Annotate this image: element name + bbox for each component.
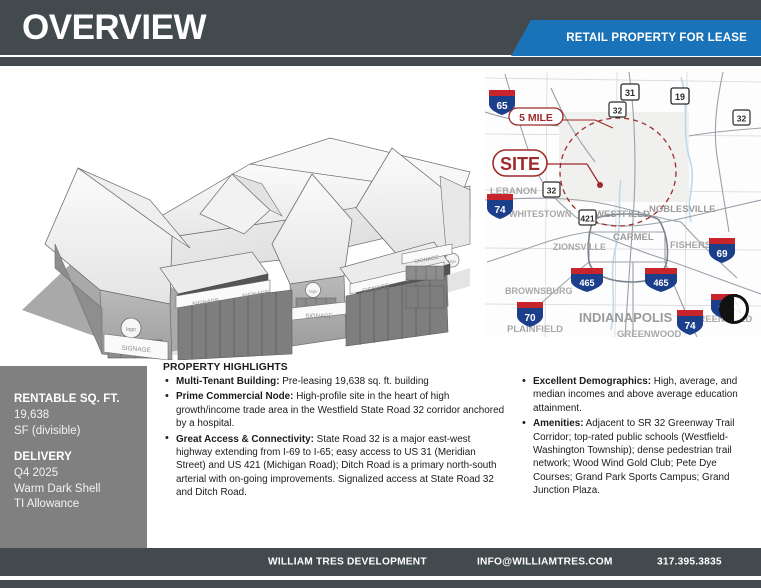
page-title: OVERVIEW — [22, 7, 206, 49]
svg-text:logo: logo — [448, 258, 456, 263]
svg-text:CARMEL: CARMEL — [613, 232, 654, 243]
facts-block-delivery: DELIVERY Q4 2025 Warm Dark Shell TI Allo… — [14, 450, 147, 513]
list-item: Amenities: Adjacent to SR 32 Greenway Tr… — [520, 417, 758, 497]
north-arrow-icon — [719, 294, 749, 324]
facts-value-shell: Warm Dark Shell — [14, 482, 147, 498]
svg-text:WHITESTOWN: WHITESTOWN — [509, 209, 571, 219]
svg-text:32: 32 — [737, 114, 747, 124]
facts-value-ti-allowance: TI Allowance — [14, 497, 147, 513]
overview-flyer-page: OVERVIEW RETAIL PROPERTY FOR LEASE — [0, 0, 761, 588]
building-rendering-svg: logo logo logo — [0, 68, 482, 360]
location-map: SITE 5 MILE LEBANON WHITESTOWN ZIONSVILL… — [485, 72, 761, 337]
map-city-greenwood: GREENWOOD — [617, 329, 682, 337]
highlights-column-right: Excellent Demographics: High, average, a… — [520, 375, 758, 500]
svg-text:19: 19 — [675, 92, 685, 102]
building-rendering: logo logo logo — [0, 68, 482, 360]
list-item: Excellent Demographics: High, average, a… — [520, 375, 758, 415]
header-tag-label: RETAIL PROPERTY FOR LEASE — [566, 32, 747, 44]
svg-text:465: 465 — [653, 278, 668, 288]
facts-label-delivery: DELIVERY — [14, 450, 147, 465]
location-map-svg: SITE 5 MILE LEBANON WHITESTOWN ZIONSVILL… — [485, 72, 761, 337]
bullet-text: Pre-leasing 19,638 sq. ft. building — [279, 376, 428, 387]
page-header: OVERVIEW RETAIL PROPERTY FOR LEASE — [0, 0, 761, 55]
svg-text:BROWNSBURG: BROWNSBURG — [505, 286, 573, 296]
svg-text:NOBLESVILLE: NOBLESVILLE — [649, 204, 716, 215]
header-divider-rule — [0, 57, 761, 66]
list-item: Prime Commercial Node: High-profile site… — [163, 390, 508, 430]
highlights-list-left: Multi-Tenant Building: Pre-leasing 19,63… — [163, 375, 508, 500]
svg-text:70: 70 — [524, 313, 536, 324]
footer-phone-number[interactable]: 317.395.3835 — [657, 557, 722, 568]
svg-text:SIGNAGE: SIGNAGE — [305, 314, 332, 320]
footer-company-name: WILLIAM TRES DEVELOPMENT — [268, 557, 427, 568]
header-tag-banner: RETAIL PROPERTY FOR LEASE — [511, 20, 761, 56]
svg-text:logo: logo — [309, 289, 317, 294]
svg-text:32: 32 — [613, 106, 623, 116]
svg-text:74: 74 — [494, 205, 506, 216]
svg-text:ZIONSVILLE: ZIONSVILLE — [553, 242, 606, 252]
bullet-term: Prime Commercial Node: — [176, 391, 293, 402]
facts-spacer — [14, 439, 147, 450]
svg-text:31: 31 — [625, 88, 635, 98]
facts-label-rentable: RENTABLE SQ. FT. — [14, 392, 147, 407]
bullet-term: Excellent Demographics: — [533, 376, 651, 387]
svg-text:SITE: SITE — [500, 154, 540, 174]
list-item: Great Access & Connectivity: State Road … — [163, 433, 508, 500]
facts-block-rentable: RENTABLE SQ. FT. 19,638 SF (divisible) — [14, 392, 147, 439]
facts-value-sqft: 19,638 — [14, 408, 147, 424]
svg-text:FISHERS: FISHERS — [670, 240, 711, 251]
svg-text:PLAINFIELD: PLAINFIELD — [507, 324, 563, 335]
svg-text:32: 32 — [547, 186, 557, 196]
page-footer: WILLIAM TRES DEVELOPMENT INFO@WILLIAMTRE… — [0, 548, 761, 576]
bullet-term: Multi-Tenant Building: — [176, 376, 279, 387]
svg-text:logo: logo — [126, 327, 136, 333]
svg-text:INDIANAPOLIS: INDIANAPOLIS — [579, 310, 673, 325]
site-callout: SITE — [493, 150, 547, 176]
bullet-term: Amenities: — [533, 418, 583, 429]
facts-value-divisible: SF (divisible) — [14, 424, 147, 440]
svg-text:5 MILE: 5 MILE — [519, 112, 553, 124]
footer-email-link[interactable]: INFO@WILLIAMTRES.COM — [477, 557, 613, 568]
property-highlights-title: PROPERTY HIGHLIGHTS — [163, 362, 288, 373]
bullet-term: Great Access & Connectivity: — [176, 434, 314, 445]
five-mile-callout: 5 MILE — [509, 108, 563, 125]
footer-divider-rule — [0, 580, 761, 588]
svg-text:74: 74 — [684, 321, 696, 332]
svg-text:69: 69 — [716, 249, 728, 260]
facts-value-quarter: Q4 2025 — [14, 466, 147, 482]
property-facts-panel: RENTABLE SQ. FT. 19,638 SF (divisible) D… — [0, 366, 147, 548]
svg-text:421: 421 — [580, 214, 594, 224]
bullet-text: Adjacent to SR 32 Greenway Trail Corrido… — [533, 418, 734, 496]
highlights-column-left: Multi-Tenant Building: Pre-leasing 19,63… — [163, 375, 508, 502]
list-item: Multi-Tenant Building: Pre-leasing 19,63… — [163, 375, 508, 388]
highlights-list-right: Excellent Demographics: High, average, a… — [520, 375, 758, 498]
svg-text:WESTFIELD: WESTFIELD — [595, 209, 650, 220]
svg-text:465: 465 — [579, 278, 594, 288]
svg-text:65: 65 — [496, 101, 508, 112]
